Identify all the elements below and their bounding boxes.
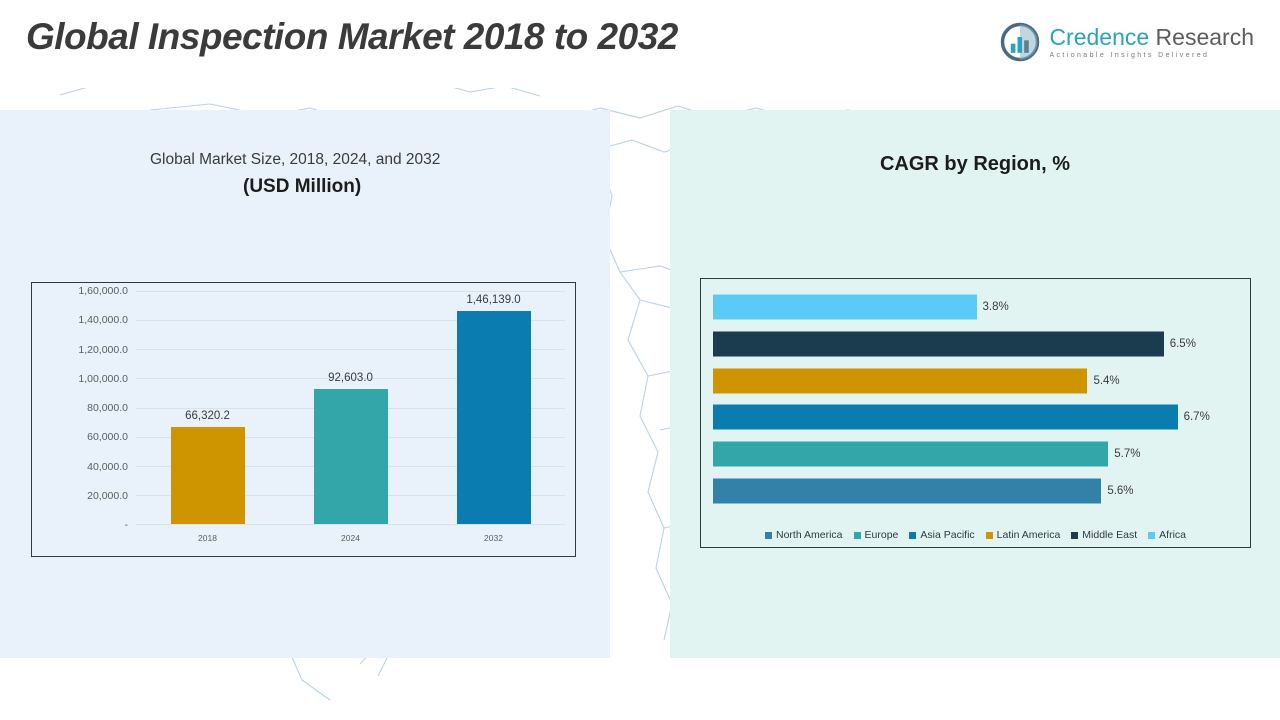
legend-swatch-icon <box>1148 532 1155 539</box>
brand-logo: Credence Research Actionable Insights De… <box>1000 22 1254 62</box>
vertical-bar <box>171 427 245 524</box>
bar-value-label: 5.7% <box>1108 448 1140 460</box>
infographic-root: Global Inspection Market 2018 to 2032 Cr… <box>0 0 1280 720</box>
bar-row: 6.7% <box>713 399 1240 436</box>
bar-row: 3.8% <box>713 289 1240 326</box>
bar-column: 1,46,139.02032 <box>422 291 565 524</box>
right-plot-area: 3.8%6.5%5.4%6.7%5.7%5.6% <box>713 289 1240 509</box>
left-chart-title-line1: Global Market Size, 2018, 2024, and 2032 <box>150 151 440 169</box>
y-axis-tick-label: 80,000.0 <box>87 402 128 414</box>
logo-name: Credence Research <box>1049 25 1254 49</box>
left-chart-title-line2: (USD Million) <box>243 176 361 198</box>
y-axis-tick-label: - <box>125 519 129 531</box>
y-axis-tick-label: 20,000.0 <box>87 490 128 502</box>
bar-value-label: 6.7% <box>1178 411 1210 423</box>
header-bar: Global Inspection Market 2018 to 2032 Cr… <box>0 0 1280 88</box>
horizontal-bar <box>713 295 977 320</box>
legend-label: Middle East <box>1082 529 1137 541</box>
x-axis-tick-label: 2018 <box>198 533 217 543</box>
legend-label: Asia Pacific <box>920 529 974 541</box>
x-axis-tick-label: 2024 <box>341 533 360 543</box>
horizontal-bar <box>713 368 1087 393</box>
legend-item[interactable]: Africa <box>1148 529 1186 541</box>
y-axis-tick-label: 1,00,000.0 <box>78 373 128 385</box>
bar-row: 5.6% <box>713 472 1240 509</box>
y-axis-tick-label: 1,40,000.0 <box>78 314 128 326</box>
right-chart-title: CAGR by Region, % <box>670 153 1280 176</box>
legend-item[interactable]: Asia Pacific <box>909 529 974 541</box>
legend-item[interactable]: North America <box>765 529 843 541</box>
x-axis-tick-label: 2032 <box>484 533 503 543</box>
horizontal-bar <box>713 441 1108 466</box>
legend-swatch-icon <box>909 532 916 539</box>
y-axis-tick-label: 1,60,000.0 <box>78 285 128 297</box>
gridline: - <box>136 524 565 525</box>
logo-name-primary: Credence <box>1049 24 1149 50</box>
bar-column: 66,320.22018 <box>136 291 279 524</box>
bar-column: 92,603.02024 <box>279 291 422 524</box>
bar-value-label: 6.5% <box>1164 338 1196 350</box>
cagr-by-region-bar-chart: 3.8%6.5%5.4%6.7%5.7%5.6% North AmericaEu… <box>700 278 1251 548</box>
y-axis-tick-label: 60,000.0 <box>87 431 128 443</box>
bar-chart-circle-logo-icon <box>1000 22 1040 62</box>
legend-label: Europe <box>865 529 899 541</box>
legend-label: Africa <box>1159 529 1186 541</box>
horizontal-bar <box>713 478 1101 503</box>
legend-label: North America <box>776 529 843 541</box>
legend-item[interactable]: Europe <box>854 529 899 541</box>
page-title: Global Inspection Market 2018 to 2032 <box>26 16 678 58</box>
left-bar-series: 66,320.2201892,603.020241,46,139.02032 <box>136 291 565 524</box>
legend-swatch-icon <box>854 532 861 539</box>
bar-value-label: 5.6% <box>1101 485 1133 497</box>
bar-row: 5.4% <box>713 362 1240 399</box>
vertical-bar <box>457 311 531 524</box>
y-axis-tick-label: 1,20,000.0 <box>78 344 128 356</box>
logo-name-secondary: Research <box>1149 24 1254 50</box>
horizontal-bar <box>713 405 1178 430</box>
horizontal-bar <box>713 331 1164 356</box>
legend-item[interactable]: Middle East <box>1071 529 1137 541</box>
left-plot-area: 1,60,000.01,40,000.01,20,000.01,00,000.0… <box>136 291 565 524</box>
bar-row: 6.5% <box>713 326 1240 363</box>
bar-value-label: 66,320.2 <box>185 410 230 422</box>
bar-value-label: 1,46,139.0 <box>466 294 520 306</box>
legend-swatch-icon <box>765 532 772 539</box>
bar-row: 5.7% <box>713 436 1240 473</box>
logo-tagline: Actionable Insights Delivered <box>1049 52 1254 59</box>
market-size-bar-chart: 1,60,000.01,40,000.01,20,000.01,00,000.0… <box>31 282 576 557</box>
legend-item[interactable]: Latin America <box>986 529 1061 541</box>
bar-value-label: 92,603.0 <box>328 372 373 384</box>
y-axis-tick-label: 40,000.0 <box>87 461 128 473</box>
legend-swatch-icon <box>986 532 993 539</box>
bar-value-label: 3.8% <box>977 301 1009 313</box>
vertical-bar <box>314 389 388 524</box>
cagr-legend: North AmericaEuropeAsia PacificLatin Ame… <box>701 529 1250 541</box>
bar-value-label: 5.4% <box>1087 375 1119 387</box>
legend-swatch-icon <box>1071 532 1078 539</box>
legend-label: Latin America <box>997 529 1061 541</box>
